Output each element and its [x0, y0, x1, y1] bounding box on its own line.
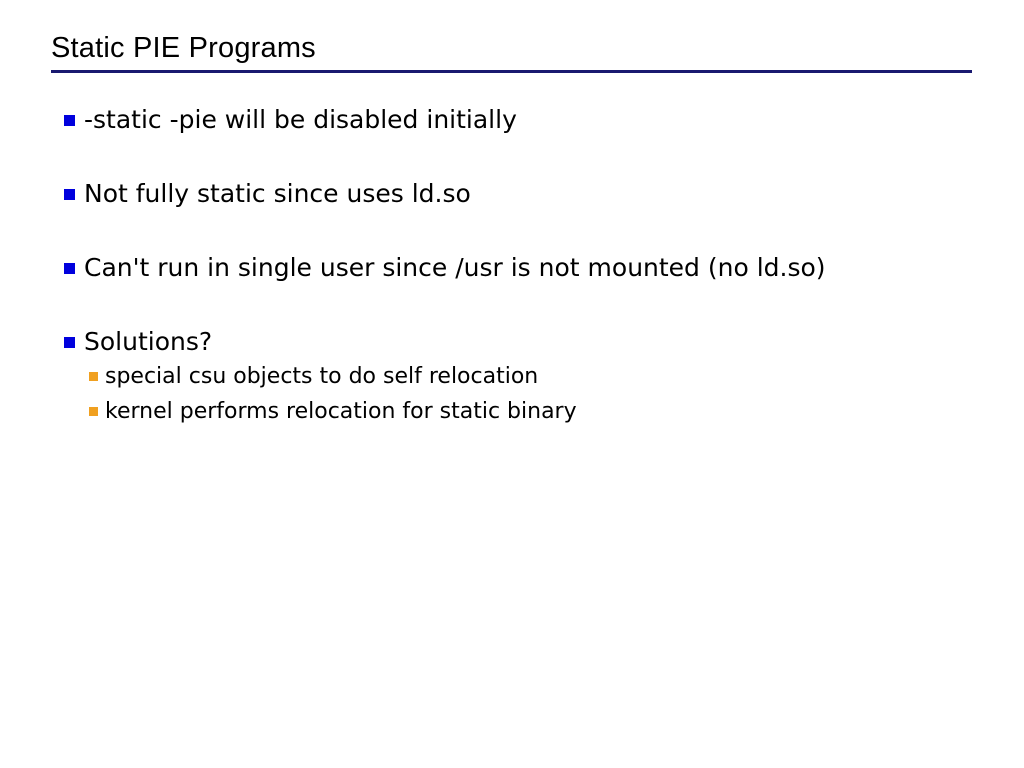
list-item: -static -pie will be disabled initially	[0, 104, 1024, 136]
page-title: Static PIE Programs	[51, 30, 981, 66]
list-item: Solutions? special csu objects to do sel…	[0, 326, 1024, 426]
list-item: Not fully static since uses ld.so	[0, 178, 1024, 210]
title-underline-rule	[51, 70, 972, 73]
bullet-list: -static -pie will be disabled initially …	[0, 104, 1024, 426]
sub-list-item: kernel performs relocation for static bi…	[0, 397, 1024, 426]
list-item-label: Not fully static since uses ld.so	[84, 178, 1024, 210]
list-item-label: Can't run in single user since /usr is n…	[84, 252, 1024, 284]
sub-list-item-label: special csu objects to do self relocatio…	[105, 362, 1024, 391]
square-bullet-icon	[64, 337, 75, 348]
square-bullet-icon	[64, 263, 75, 274]
list-item-label: Solutions?	[84, 326, 1024, 358]
solutions-group: Solutions? special csu objects to do sel…	[0, 326, 1024, 426]
square-sub-bullet-icon	[89, 372, 98, 381]
list-item: Can't run in single user since /usr is n…	[0, 252, 1024, 284]
sub-list-item-label: kernel performs relocation for static bi…	[105, 397, 1024, 426]
slide-canvas: Static PIE Programs -static -pie will be…	[0, 0, 1024, 768]
square-bullet-icon	[64, 115, 75, 126]
square-bullet-icon	[64, 189, 75, 200]
list-item-label: -static -pie will be disabled initially	[84, 104, 1024, 136]
sub-bullet-list: special csu objects to do self relocatio…	[84, 362, 1024, 426]
sub-list-item: special csu objects to do self relocatio…	[0, 362, 1024, 391]
square-sub-bullet-icon	[89, 407, 98, 416]
